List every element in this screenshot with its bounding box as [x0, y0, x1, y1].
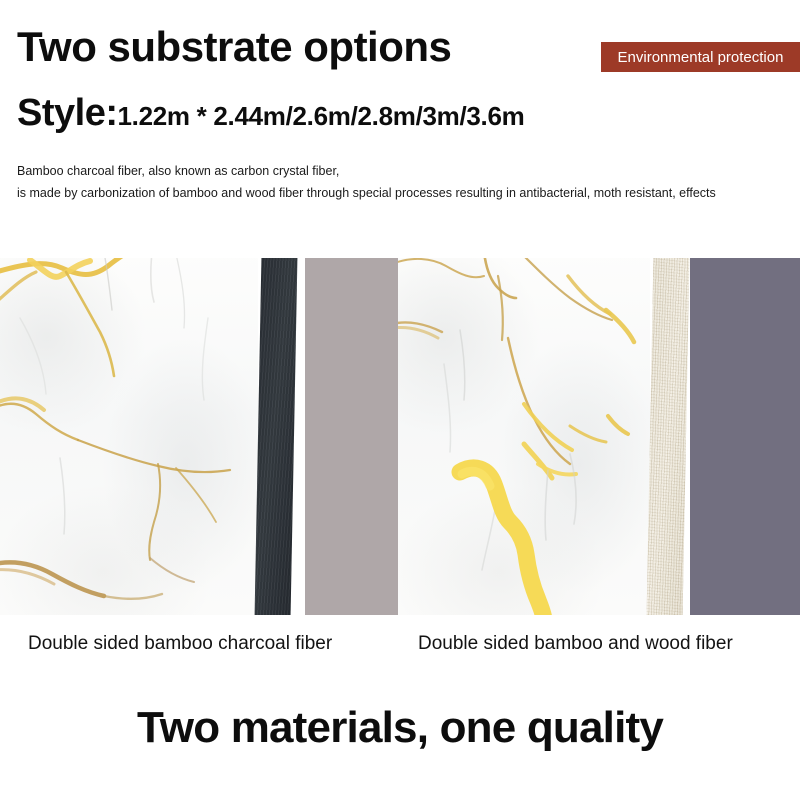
style-label: Style:	[17, 94, 117, 132]
description-line-1: Bamboo charcoal fiber, also known as car…	[17, 160, 789, 182]
product-description: Bamboo charcoal fiber, also known as car…	[17, 160, 789, 204]
status-badge-environmental-protection: Environmental protection	[601, 42, 800, 72]
description-line-2: is made by carbonization of bamboo and w…	[17, 182, 789, 204]
backdrop-slate-purple	[690, 258, 800, 615]
caption-charcoal-fiber: Double sided bamboo charcoal fiber	[28, 630, 332, 658]
style-size-values: 1.22m * 2.44m/2.6m/2.8m/3m/3.6m	[117, 103, 524, 129]
gold-vein-pattern-left	[0, 258, 258, 615]
page-title: Two substrate options	[17, 26, 451, 68]
bamboo-wood-core-edge	[647, 258, 690, 615]
style-spec-line: Style: 1.22m * 2.44m/2.6m/2.8m/3m/3.6m	[17, 94, 524, 132]
backdrop-mauve-gray	[305, 258, 398, 615]
charcoal-core-edge	[255, 258, 298, 615]
gallery-captions: Double sided bamboo charcoal fiber Doubl…	[0, 630, 800, 664]
footer-tagline: Two materials, one quality	[0, 706, 800, 750]
product-panel-charcoal-fiber[interactable]	[0, 258, 398, 615]
product-image-gallery	[0, 258, 800, 615]
marble-slab-face-right	[398, 258, 650, 615]
caption-bamboo-wood-fiber: Double sided bamboo and wood fiber	[418, 630, 733, 658]
header-section: Two substrate options Environmental prot…	[0, 0, 800, 218]
marble-slab-face-left	[0, 258, 258, 615]
product-panel-bamboo-wood-fiber[interactable]	[398, 258, 800, 615]
gold-vein-pattern-right	[398, 258, 650, 615]
